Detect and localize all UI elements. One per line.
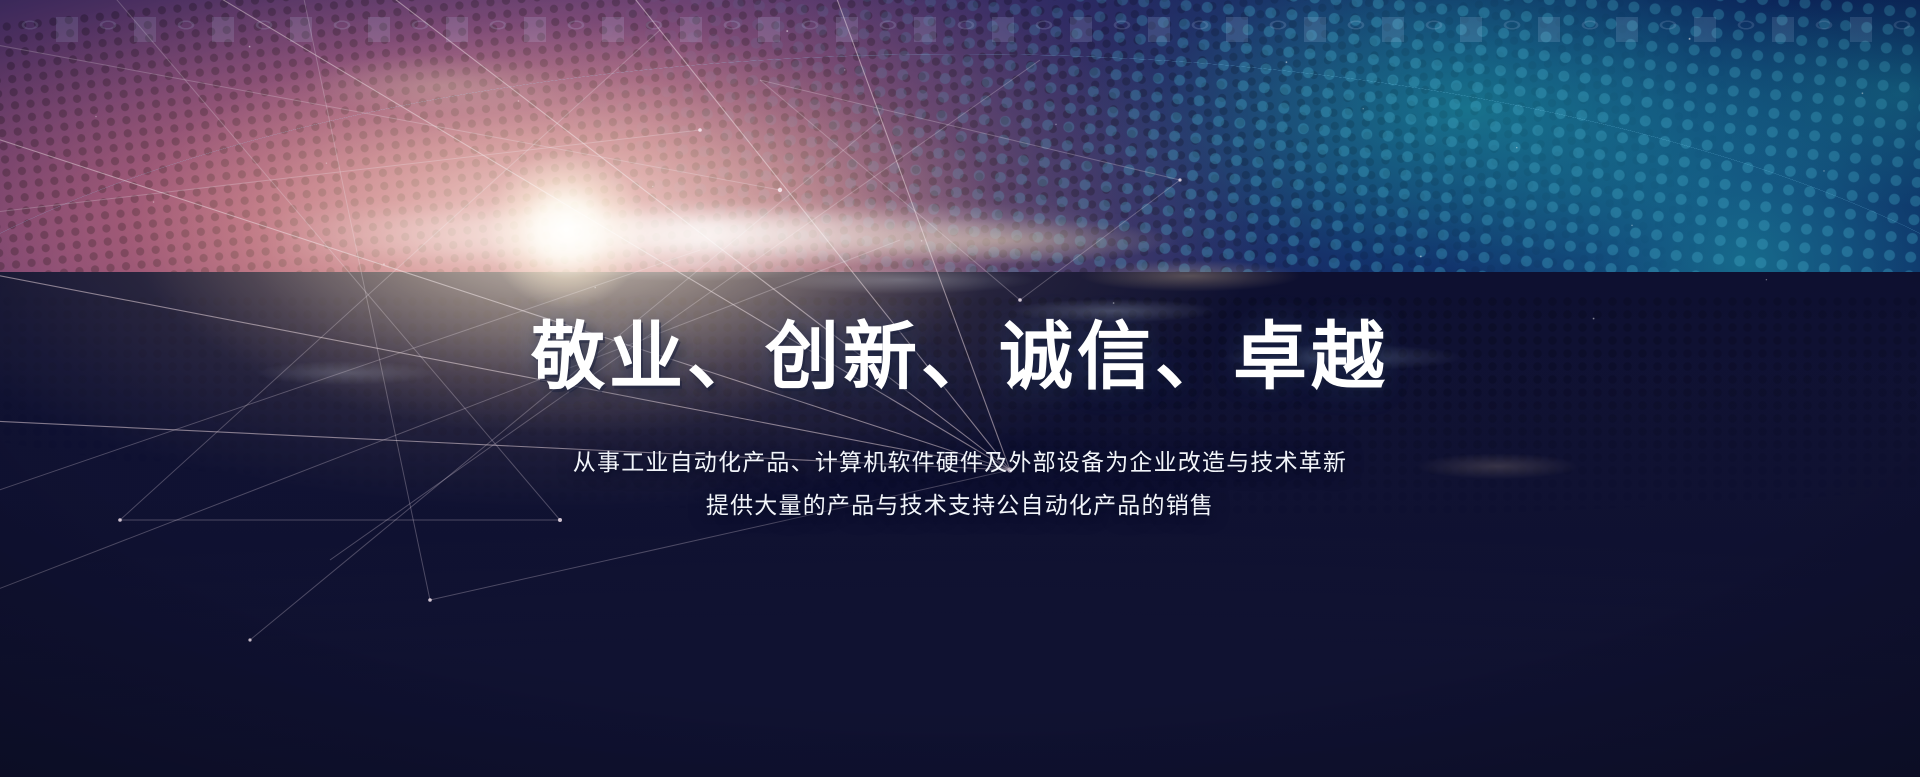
dashed-glyph-strip xyxy=(0,8,1920,42)
banner-subtitle-line-1: 从事工业自动化产品、计算机软件硬件及外部设备为企业改造与技术革新 xyxy=(0,441,1920,484)
banner-subtitle: 从事工业自动化产品、计算机软件硬件及外部设备为企业改造与技术革新 提供大量的产品… xyxy=(0,441,1920,527)
hero-banner: 敬业、创新、诚信、卓越 从事工业自动化产品、计算机软件硬件及外部设备为企业改造与… xyxy=(0,0,1920,777)
banner-headline: 敬业、创新、诚信、卓越 xyxy=(0,316,1920,397)
banner-copy: 敬业、创新、诚信、卓越 从事工业自动化产品、计算机软件硬件及外部设备为企业改造与… xyxy=(0,316,1920,527)
sun-lens-flare xyxy=(269,214,1114,257)
banner-subtitle-line-2: 提供大量的产品与技术支持公自动化产品的销售 xyxy=(0,484,1920,527)
